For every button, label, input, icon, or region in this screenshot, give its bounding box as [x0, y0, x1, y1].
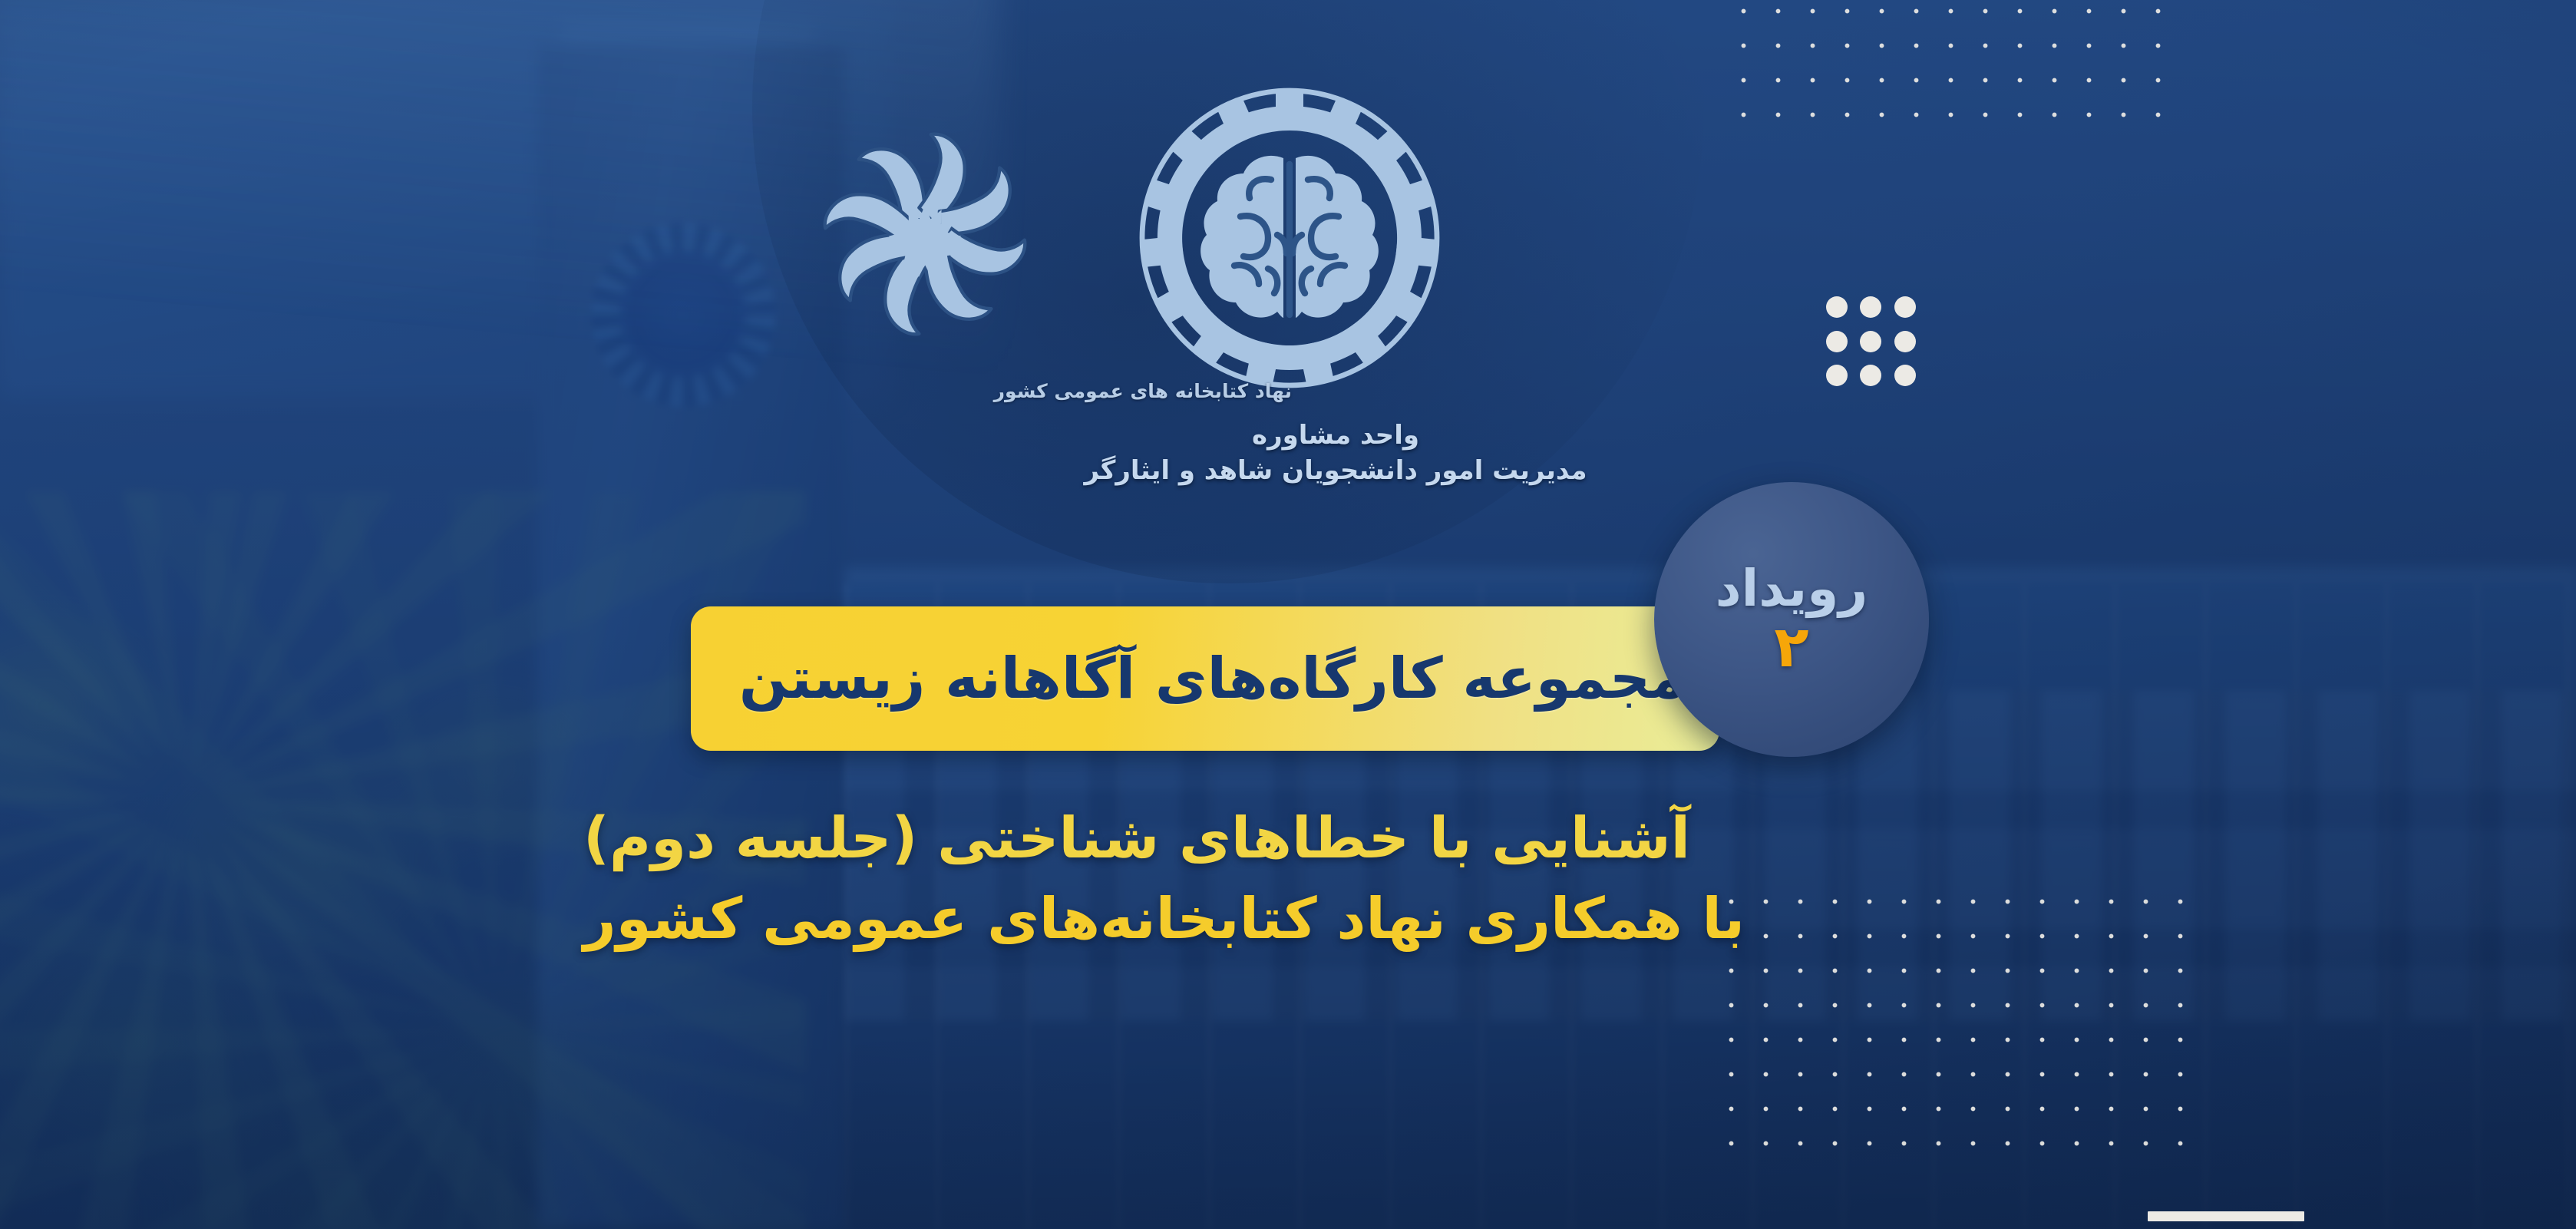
- badge-number: ۲: [1774, 619, 1808, 676]
- logo-row: [814, 92, 1551, 292]
- library-pinwheel-icon: [821, 130, 1029, 338]
- brain-gear-icon: [1136, 84, 1443, 391]
- badge-label: رویداد: [1716, 563, 1868, 614]
- session-title-line2: با همکاری نهاد کتابخانه‌های عمومی کشور: [583, 879, 1957, 960]
- counseling-unit-line2: مدیریت امور دانشجویان شاهد و ایثارگر: [1029, 454, 1643, 489]
- cluster-dot: [1826, 365, 1848, 386]
- library-logo-caption: نهاد کتابخانه های عمومی کشور: [770, 380, 1292, 402]
- cluster-dot: [1860, 331, 1881, 352]
- cluster-dot: [1826, 331, 1848, 352]
- dot-cluster-icon: [1824, 296, 1916, 388]
- session-title-block: آشنایی با خطاهای شناختی (جلسه دوم) با هم…: [583, 798, 1957, 960]
- bottom-accent-bar: [2148, 1211, 2304, 1221]
- event-poster: نهاد کتابخانه های عمومی کشور واحد مشاوره…: [0, 0, 2576, 1229]
- workshop-series-title: مجموعه کارگاه‌های آگاهانه زیستن: [739, 650, 1686, 707]
- cluster-dot: [1894, 331, 1916, 352]
- workshop-series-banner: مجموعه کارگاه‌های آگاهانه زیستن: [691, 606, 1719, 751]
- counseling-unit-line1: واحد مشاوره: [1029, 418, 1643, 454]
- event-number-badge: رویداد ۲: [1654, 482, 1929, 757]
- cluster-dot: [1860, 296, 1881, 318]
- session-title-line1: آشنایی با خطاهای شناختی (جلسه دوم): [583, 798, 1957, 879]
- cluster-dot: [1894, 365, 1916, 386]
- cluster-dot: [1860, 365, 1881, 386]
- cluster-dot: [1894, 296, 1916, 318]
- counseling-unit-caption: واحد مشاوره مدیریت امور دانشجویان شاهد و…: [1029, 418, 1643, 489]
- dot-grid-top-icon: [1722, 0, 2175, 143]
- cluster-dot: [1826, 296, 1848, 318]
